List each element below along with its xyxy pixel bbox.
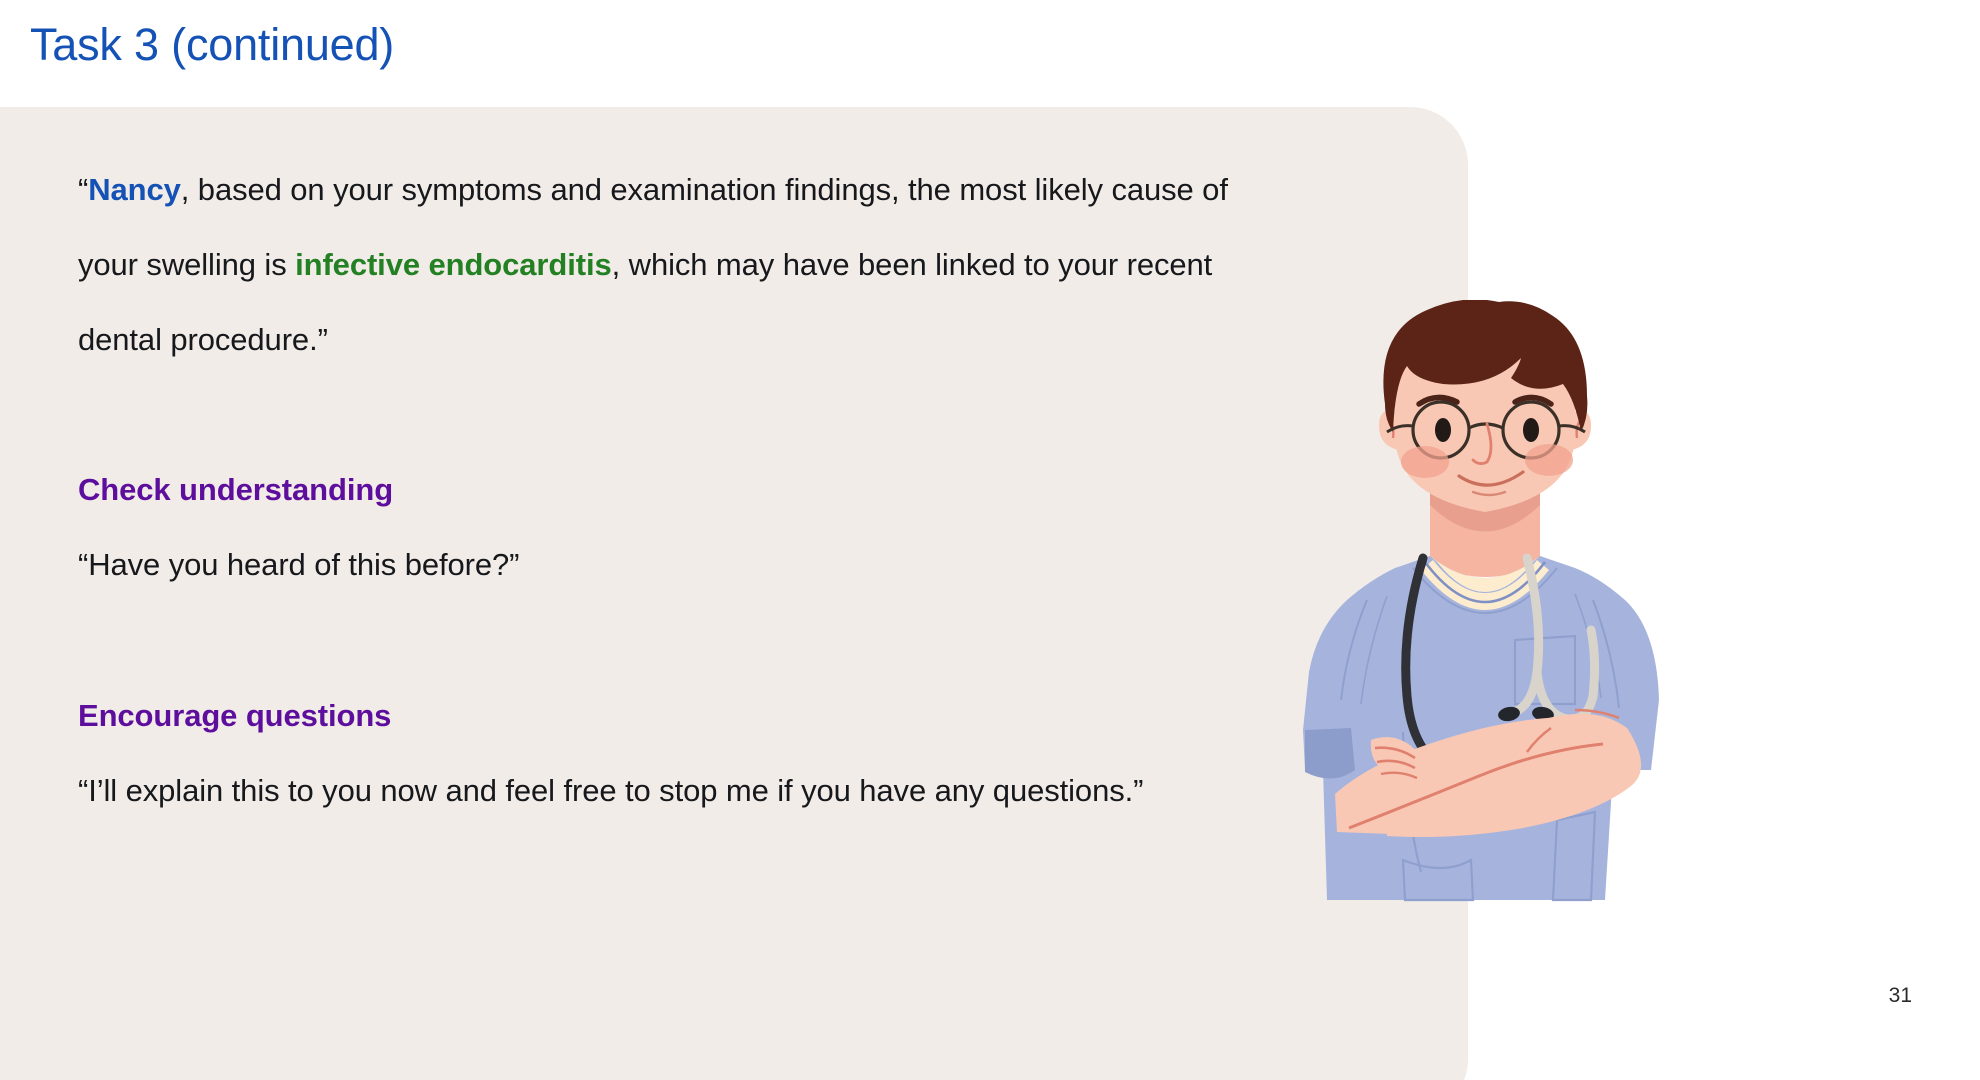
- paragraph-spacer: [78, 377, 1268, 452]
- open-quote: “: [78, 172, 88, 207]
- slide-canvas: Task 3 (continued) “Nancy, based on your…: [0, 0, 1980, 1080]
- patient-name-highlight: Nancy: [88, 172, 181, 207]
- section-text-check-understanding: “Have you heard of this before?”: [78, 527, 1268, 602]
- patient-explanation-paragraph: “Nancy, based on your symptoms and exami…: [78, 152, 1268, 377]
- page-title: Task 3 (continued): [30, 14, 394, 76]
- doctor-illustration: [1275, 300, 1695, 910]
- body-text-block: “Nancy, based on your symptoms and exami…: [78, 152, 1268, 828]
- section-heading-check-understanding: Check understanding: [78, 452, 1268, 527]
- doctor-figure-svg: [1275, 300, 1695, 910]
- section-spacer: [78, 602, 1268, 678]
- page-number: 31: [1889, 984, 1912, 1008]
- section-heading-encourage-questions: Encourage questions: [78, 678, 1268, 753]
- diagnosis-highlight: infective endocarditis: [295, 247, 612, 282]
- section-text-encourage-questions: “I’ll explain this to you now and feel f…: [78, 753, 1268, 828]
